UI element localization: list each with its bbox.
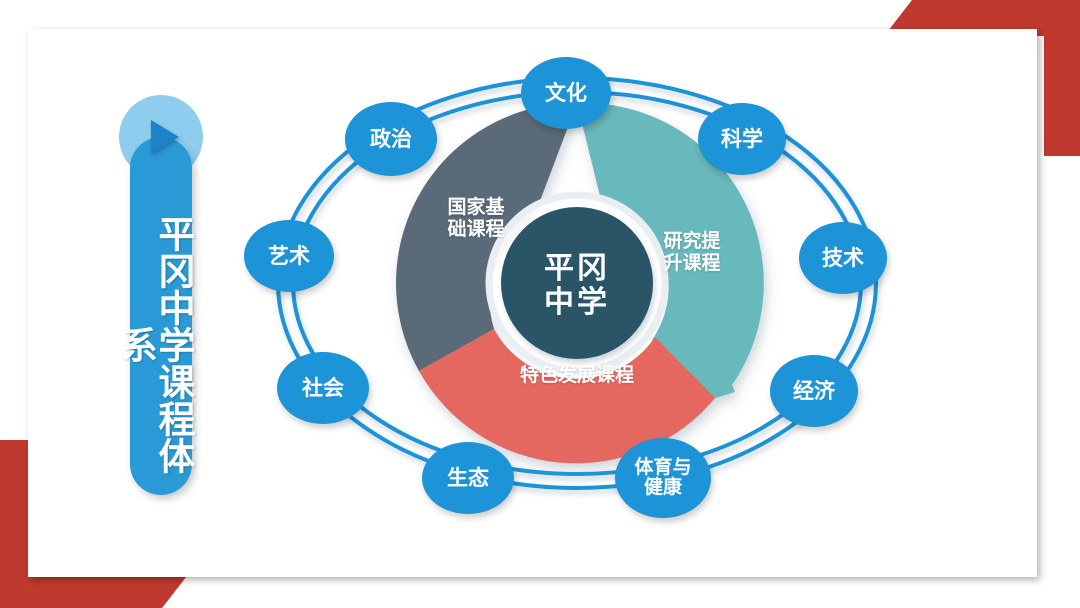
node-society[interactable]: 社会 — [277, 352, 369, 424]
node-ecology[interactable]: 生态 — [422, 442, 514, 514]
node-culture[interactable]: 文化 — [521, 57, 611, 129]
node-label-society: 社会 — [302, 377, 344, 399]
node-label-pe-health: 体育与 健康 — [634, 458, 691, 498]
node-label-technology: 技术 — [822, 247, 864, 269]
node-economy[interactable]: 经济 — [770, 355, 858, 427]
play-triangle-icon — [151, 120, 179, 154]
node-pe-health[interactable]: 体育与 健康 — [615, 438, 711, 518]
node-label-economy: 经济 — [793, 380, 835, 402]
banner-title-text: 平冈中学课程体系 — [130, 199, 192, 489]
curriculum-system-diagram: 国家基 础课程 研究提 升课程 特色发展课程 平冈 中学 文化 科学 技术 经济… — [232, 40, 922, 520]
title-banner: 平冈中学课程体系 — [130, 95, 192, 495]
node-label-culture: 文化 — [545, 82, 587, 104]
node-label-ecology: 生态 — [447, 467, 489, 489]
node-politics[interactable]: 政治 — [345, 102, 437, 176]
core-circle — [501, 207, 653, 359]
slide-canvas: 平冈中学课程体系 — [0, 0, 1080, 608]
node-technology[interactable]: 技术 — [799, 222, 887, 294]
node-art[interactable]: 艺术 — [244, 220, 334, 292]
node-label-science: 科学 — [721, 128, 763, 150]
node-label-politics: 政治 — [370, 128, 412, 150]
node-science[interactable]: 科学 — [698, 103, 786, 175]
node-label-art: 艺术 — [268, 245, 310, 267]
